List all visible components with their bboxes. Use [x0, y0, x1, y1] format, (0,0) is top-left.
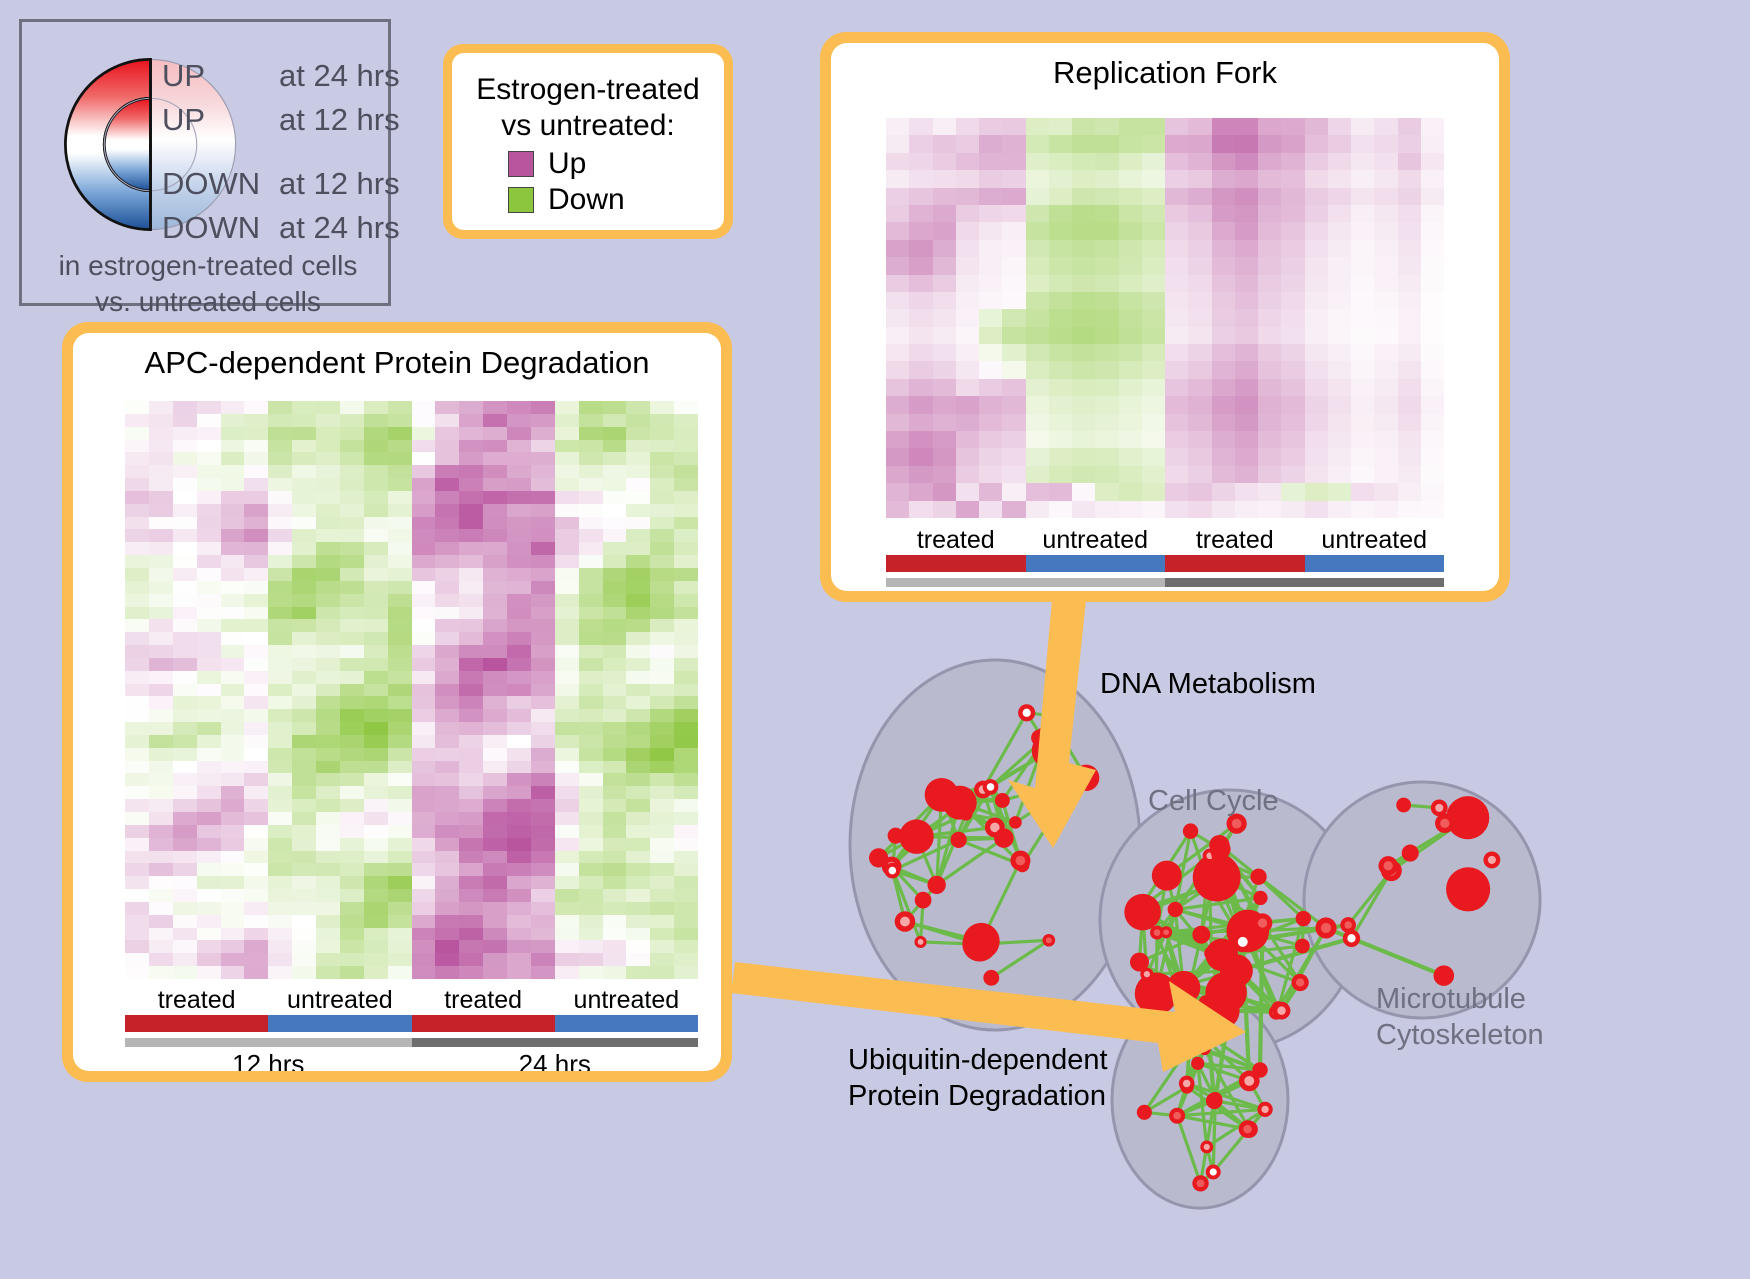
heatmap-cell [388, 414, 412, 427]
heatmap-cell [292, 722, 316, 735]
heatmap-cell [956, 257, 979, 274]
heatmap-cell [579, 902, 603, 915]
treatment-color-bar [125, 1015, 698, 1032]
heatmap-cell [507, 491, 531, 504]
heatmap-cell [626, 966, 650, 979]
heatmap-cell [221, 465, 245, 478]
network-node[interactable] [962, 927, 997, 962]
color-key-direction: UP [162, 98, 279, 142]
heatmap-cell [1328, 414, 1351, 431]
network-node[interactable] [994, 828, 1014, 848]
heatmap-cell [650, 465, 674, 478]
heatmap-cell [1142, 118, 1165, 135]
heatmap-cell [173, 902, 197, 915]
heatmap-cell [221, 414, 245, 427]
group-labels: treated untreated treated untreated [125, 985, 698, 1015]
heatmap-cell [1421, 188, 1444, 205]
heatmap-cell [886, 170, 909, 187]
heatmap-cell [1212, 361, 1235, 378]
network-node[interactable] [1396, 798, 1411, 813]
heatmap-cell [650, 555, 674, 568]
heatmap-cell [1002, 135, 1025, 152]
heatmap-cell [1072, 309, 1095, 326]
heatmap-cell [979, 396, 1002, 413]
heatmap-cell [531, 786, 555, 799]
heatmap-cell [1049, 448, 1072, 465]
heatmap-cell [125, 876, 149, 889]
heatmap-cell [933, 222, 956, 239]
heatmap-cell [531, 838, 555, 851]
heatmap-cell [459, 696, 483, 709]
network-node[interactable] [1204, 946, 1218, 960]
heatmap-cell [1026, 222, 1049, 239]
heatmap-cell [149, 401, 173, 414]
heatmap-cell [674, 440, 698, 453]
heatmap-cell [435, 684, 459, 697]
heatmap-cell [412, 401, 436, 414]
heatmap-cell [340, 928, 364, 941]
network-node[interactable] [1250, 869, 1266, 885]
heatmap-cell [340, 876, 364, 889]
legend-title-line2: vs untreated: [501, 108, 674, 144]
heatmap-cell [1165, 309, 1188, 326]
heatmap-cell [1142, 222, 1165, 239]
heatmap-cell [125, 478, 149, 491]
network-node[interactable] [1167, 971, 1201, 1005]
heatmap-cell [268, 671, 292, 684]
heatmap-cell [459, 658, 483, 671]
heatmap-cell [173, 863, 197, 876]
heatmap-cell [979, 466, 1002, 483]
heatmap-cell [979, 309, 1002, 326]
heatmap-cell [626, 581, 650, 594]
panel-title: APC-dependent Protein Degradation [73, 333, 721, 381]
heatmap-cell [933, 153, 956, 170]
heatmap-cell [435, 478, 459, 491]
heatmap-cell [244, 619, 268, 632]
heatmap-cell [603, 401, 627, 414]
bar-segment-treated [886, 555, 1026, 572]
network-node[interactable] [1199, 995, 1213, 1009]
heatmap-cell [1119, 309, 1142, 326]
heatmap-cell [579, 799, 603, 812]
heatmap-cell [149, 722, 173, 735]
heatmap-cell [292, 465, 316, 478]
heatmap-cell [1002, 483, 1025, 500]
heatmap-cell [292, 619, 316, 632]
heatmap-cell [244, 761, 268, 774]
heatmap-cell [1002, 501, 1025, 518]
heatmap-cell [1165, 275, 1188, 292]
network-node[interactable] [1152, 861, 1182, 891]
heatmap-cell [412, 645, 436, 658]
heatmap-cell [173, 414, 197, 427]
heatmap-cell [603, 863, 627, 876]
bar-segment-treated [1165, 555, 1305, 572]
heatmap-cell [507, 542, 531, 555]
heatmap-cell [340, 658, 364, 671]
heatmap-cell [316, 645, 340, 658]
heatmap-cell [388, 542, 412, 555]
heatmap-cell [149, 812, 173, 825]
heatmap-cell [412, 773, 436, 786]
heatmap-cell [507, 735, 531, 748]
heatmap-cell [1235, 170, 1258, 187]
color-key-footer-line2: vs. untreated cells [22, 284, 394, 320]
heatmap-cell [316, 478, 340, 491]
heatmap-cell [221, 966, 245, 979]
network-node[interactable] [1180, 1013, 1202, 1035]
heatmap-cell [1142, 414, 1165, 431]
heatmap-cell [459, 940, 483, 953]
heatmap-cell [412, 594, 436, 607]
network-node-core [1185, 1042, 1193, 1050]
heatmap-cell [674, 465, 698, 478]
group-label: treated [886, 525, 1026, 555]
network-node[interactable] [1446, 867, 1490, 911]
network-node[interactable] [1253, 891, 1267, 905]
heatmap-cell [603, 735, 627, 748]
heatmap-cell [674, 851, 698, 864]
heatmap-cell [531, 517, 555, 530]
heatmap-cell [197, 607, 221, 620]
network-node-core [1296, 978, 1304, 986]
heatmap-cell [412, 953, 436, 966]
network-node[interactable] [1295, 939, 1310, 954]
heatmap-cell [555, 491, 579, 504]
heatmap-cell [1305, 448, 1328, 465]
heatmap-cell [531, 825, 555, 838]
network-node[interactable] [960, 808, 973, 821]
heatmap-cell [531, 915, 555, 928]
heatmap-cell [1258, 153, 1281, 170]
heatmap-cell [388, 632, 412, 645]
heatmap-cell [555, 851, 579, 864]
heatmap-cell [459, 478, 483, 491]
heatmap-cell [1142, 327, 1165, 344]
heatmap-cell [531, 953, 555, 966]
network-node-core [1183, 1080, 1190, 1087]
heatmap-cell [579, 838, 603, 851]
heatmap-cell [364, 440, 388, 453]
network-node[interactable] [1210, 839, 1231, 860]
heatmap-cell [388, 452, 412, 465]
heatmap-cell [340, 761, 364, 774]
heatmap-cell [531, 966, 555, 979]
bar-segment-24hrs [412, 1038, 699, 1047]
heatmap-cell [1351, 344, 1374, 361]
heatmap-cell [125, 825, 149, 838]
heatmap-cell [388, 709, 412, 722]
network-node[interactable] [915, 892, 932, 909]
heatmap-cell [1281, 170, 1304, 187]
legend-item-up: Up [508, 148, 668, 180]
heatmap-cell [483, 645, 507, 658]
heatmap-cell [579, 529, 603, 542]
heatmap-cell [1119, 275, 1142, 292]
heatmap-cell [244, 607, 268, 620]
heatmap-cell [1235, 396, 1258, 413]
legend-title-line1: Estrogen-treated [476, 72, 699, 108]
heatmap-cell [244, 748, 268, 761]
network-node[interactable] [1208, 1092, 1222, 1106]
network-node[interactable] [1129, 899, 1150, 920]
network-node[interactable] [1402, 845, 1419, 862]
heatmap-cell [244, 773, 268, 786]
group-label: untreated [1305, 525, 1445, 555]
heatmap-cell [149, 928, 173, 941]
heatmap-cell [626, 696, 650, 709]
heatmap-cell [292, 902, 316, 915]
heatmap-cell [1188, 257, 1211, 274]
up-swatch-icon [508, 151, 534, 177]
network-node[interactable] [1009, 816, 1022, 829]
heatmap-cell [292, 748, 316, 761]
network-node-core [1154, 929, 1161, 936]
heatmap-cell [650, 902, 674, 915]
heatmap-cell [674, 517, 698, 530]
heatmap-cell [268, 440, 292, 453]
heatmap-cell [626, 671, 650, 684]
group-label: treated [125, 985, 268, 1015]
heatmap-cell [1072, 257, 1095, 274]
heatmap-cell [579, 709, 603, 722]
network-node[interactable] [888, 828, 904, 844]
heatmap-cell [364, 619, 388, 632]
network-node[interactable] [941, 788, 957, 804]
heatmap-cell [1258, 361, 1281, 378]
network-node[interactable] [1296, 911, 1311, 926]
color-key-row: DOWN at 24 hrs [162, 206, 402, 250]
heatmap-cell [1305, 205, 1328, 222]
heatmap-cell [268, 427, 292, 440]
heatmap-cell [459, 671, 483, 684]
heatmap-cell [579, 696, 603, 709]
heatmap-cell [435, 594, 459, 607]
heatmap-cell [459, 786, 483, 799]
heatmap-cell [674, 915, 698, 928]
heatmap-cell [412, 799, 436, 812]
heatmap-cell [244, 594, 268, 607]
heatmap-cell [909, 222, 932, 239]
heatmap-cell [1328, 344, 1351, 361]
heatmap-cell [340, 799, 364, 812]
heatmap-cell [340, 607, 364, 620]
heatmap-cell [1212, 222, 1235, 239]
heatmap-cell [173, 799, 197, 812]
heatmap-cell [674, 709, 698, 722]
heatmap-cell [507, 440, 531, 453]
heatmap-cell [1188, 327, 1211, 344]
heatmap-cell [1328, 240, 1351, 257]
legend-box: Estrogen-treated vs untreated: Up Down [443, 44, 733, 239]
heatmap-cell [173, 825, 197, 838]
network-node[interactable] [995, 793, 1010, 808]
heatmap-cell [1258, 431, 1281, 448]
heatmap-cell [626, 517, 650, 530]
heatmap-cell [483, 427, 507, 440]
heatmap-cell [1328, 501, 1351, 518]
heatmap-cell [650, 440, 674, 453]
color-key-direction: UP [162, 54, 279, 98]
heatmap-cell [125, 966, 149, 979]
heatmap-cell [1095, 292, 1118, 309]
network-node[interactable] [1183, 823, 1198, 838]
heatmap-cell [1095, 396, 1118, 413]
heatmap-cell [412, 529, 436, 542]
network-node[interactable] [1168, 902, 1183, 917]
network-node[interactable] [1220, 954, 1253, 987]
network-node-core [918, 939, 924, 945]
heatmap-cell [1212, 205, 1235, 222]
heatmap-cell [459, 851, 483, 864]
heatmap-cell [650, 748, 674, 761]
heatmap-cell [435, 851, 459, 864]
heatmap-cell [650, 671, 674, 684]
heatmap-cell [1305, 309, 1328, 326]
heatmap-cell [1026, 292, 1049, 309]
heatmap-cell [555, 568, 579, 581]
heatmap-cell [626, 607, 650, 620]
network-node[interactable] [1199, 876, 1220, 897]
heatmap-cell [316, 491, 340, 504]
network-node[interactable] [1192, 926, 1210, 944]
heatmap-cell [579, 812, 603, 825]
heatmap-cell [244, 876, 268, 889]
heatmap-cell [197, 542, 221, 555]
heatmap-cell [555, 876, 579, 889]
heatmap-cell [1421, 379, 1444, 396]
heatmap-cell [956, 135, 979, 152]
heatmap-cell [1212, 188, 1235, 205]
heatmap-cell [933, 483, 956, 500]
heatmap-cell [412, 696, 436, 709]
heatmap-cell [149, 478, 173, 491]
heatmap-cell [579, 671, 603, 684]
bar-segment-12hrs [125, 1038, 412, 1047]
heatmap-cell [268, 658, 292, 671]
heatmap-cell [1374, 118, 1397, 135]
heatmap-cell [531, 452, 555, 465]
heatmap-cell [292, 632, 316, 645]
network-node[interactable] [983, 970, 999, 986]
heatmap-cell [603, 812, 627, 825]
heatmap-cell [1049, 379, 1072, 396]
heatmap-cell [316, 632, 340, 645]
network-node[interactable] [1191, 1057, 1204, 1070]
heatmap-cell [125, 517, 149, 530]
heatmap-cell [531, 773, 555, 786]
heatmap-cell [435, 735, 459, 748]
heatmap-cell [1421, 431, 1444, 448]
heatmap-cell [650, 581, 674, 594]
heatmap-cell [388, 619, 412, 632]
heatmap-cell [579, 517, 603, 530]
heatmap-cell [650, 517, 674, 530]
heatmap-cell [1328, 188, 1351, 205]
heatmap-cell [173, 440, 197, 453]
heatmap-cell [149, 709, 173, 722]
heatmap-cell [531, 671, 555, 684]
heatmap-cell [603, 594, 627, 607]
heatmap-cell [1305, 483, 1328, 500]
heatmap-cell [435, 555, 459, 568]
heatmap-cell [364, 889, 388, 902]
heatmap-cell [1165, 135, 1188, 152]
heatmap-cell [1095, 188, 1118, 205]
network-node-core [1321, 923, 1331, 933]
network-node[interactable] [951, 832, 967, 848]
heatmap-cell [886, 240, 909, 257]
heatmap-cell [1305, 361, 1328, 378]
heatmap-cell [507, 568, 531, 581]
heatmap-cell [1258, 379, 1281, 396]
heatmap-cell [244, 452, 268, 465]
heatmap-cell [579, 478, 603, 491]
heatmap-cell [1072, 205, 1095, 222]
network-node[interactable] [927, 876, 945, 894]
heatmap-cell [340, 645, 364, 658]
heatmap-cell [388, 851, 412, 864]
network-node[interactable] [1130, 953, 1149, 972]
heatmap-cell [650, 478, 674, 491]
heatmap-cell [909, 483, 932, 500]
heatmap-cell [1398, 448, 1421, 465]
heatmap-cell [1398, 327, 1421, 344]
heatmap-cell [435, 966, 459, 979]
heatmap-cell [1398, 257, 1421, 274]
heatmap-cell [149, 684, 173, 697]
heatmap-cell [674, 619, 698, 632]
heatmap-cell [149, 838, 173, 851]
heatmap-cell [555, 529, 579, 542]
heatmap-cell [221, 632, 245, 645]
heatmap-cell [555, 478, 579, 491]
heatmap-cell [579, 722, 603, 735]
heatmap-cell [933, 135, 956, 152]
network-node[interactable] [899, 819, 934, 854]
heatmap-cell [364, 838, 388, 851]
heatmap-cell [459, 812, 483, 825]
heatmap-cell [388, 401, 412, 414]
network-node[interactable] [869, 848, 888, 867]
heatmap-cell [1142, 205, 1165, 222]
heatmap-cell [1374, 275, 1397, 292]
heatmap-cell [197, 594, 221, 607]
heatmap-cell [1235, 466, 1258, 483]
heatmap-cell [1351, 222, 1374, 239]
heatmap-cell [244, 709, 268, 722]
heatmap-cell [149, 452, 173, 465]
heatmap-cell [364, 452, 388, 465]
network-node[interactable] [1137, 1105, 1152, 1120]
heatmap-cell [244, 838, 268, 851]
heatmap-cell [340, 594, 364, 607]
heatmap-cell [149, 529, 173, 542]
heatmap-cell [886, 205, 909, 222]
heatmap-cell [388, 684, 412, 697]
heatmap-cell [626, 619, 650, 632]
heatmap-cell [1026, 431, 1049, 448]
heatmap-cell [1398, 361, 1421, 378]
heatmap-cell [292, 773, 316, 786]
heatmap-cell [1398, 396, 1421, 413]
heatmap-cell [483, 863, 507, 876]
heatmap-cell [507, 684, 531, 697]
heatmap-cell [221, 581, 245, 594]
heatmap-cell [909, 170, 932, 187]
bar-segment-treated [412, 1015, 555, 1032]
